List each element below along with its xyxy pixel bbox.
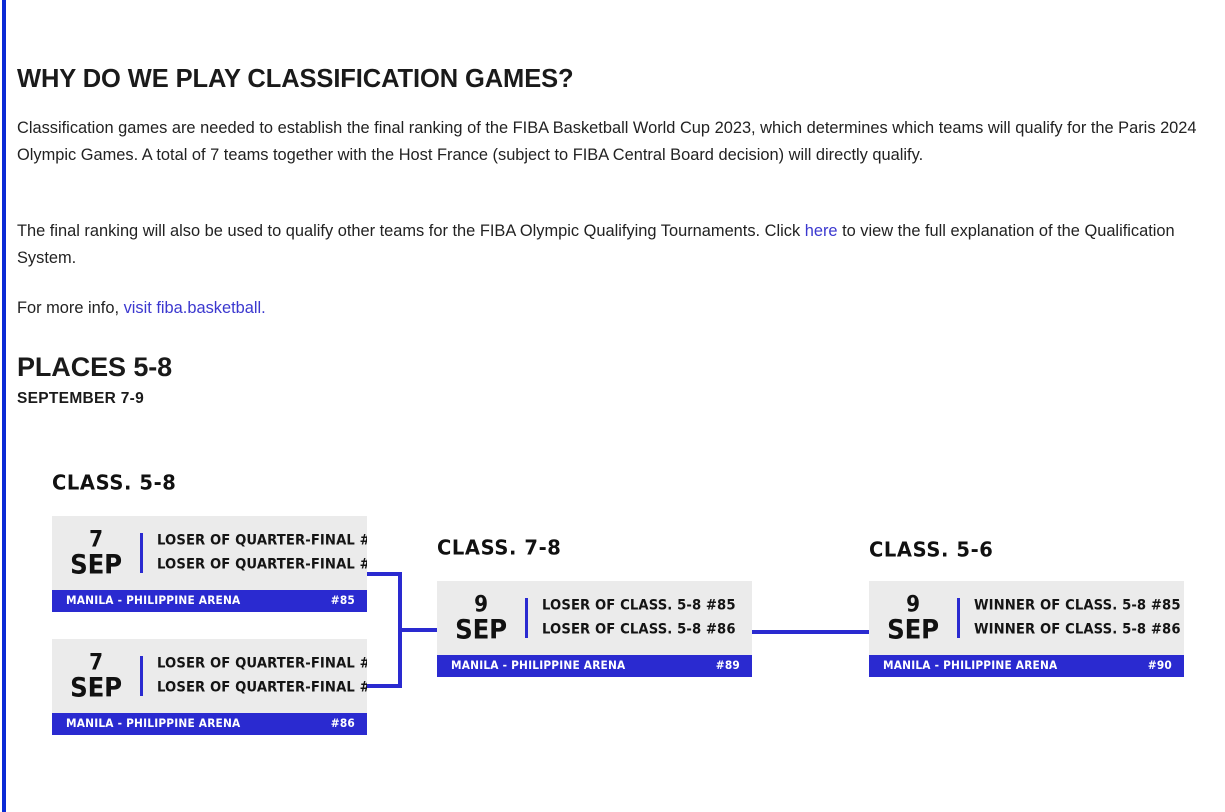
match-date: 9 SEP — [437, 594, 525, 643]
match-day: 9 — [869, 593, 957, 615]
connector-feed-horizontal — [398, 628, 437, 632]
match-teams: WINNER OF CLASS. 5-8 #85 WINNER OF CLASS… — [974, 594, 1184, 642]
match-card-89[interactable]: 9 SEP LOSER OF CLASS. 5-8 #85 LOSER OF C… — [437, 581, 752, 677]
divider-rule — [140, 533, 143, 573]
connector-bottom-horizontal — [367, 684, 402, 688]
venue-bar: MANILA - PHILIPPINE ARENA #85 — [52, 590, 367, 612]
venue-name: MANILA - PHILIPPINE ARENA — [883, 660, 1057, 673]
match-body: 9 SEP WINNER OF CLASS. 5-8 #85 WINNER OF… — [869, 581, 1184, 655]
match-date: 7 SEP — [52, 652, 140, 701]
game-number: #89 — [716, 660, 740, 673]
match-teams: LOSER OF CLASS. 5-8 #85 LOSER OF CLASS. … — [542, 594, 752, 642]
divider-rule — [957, 598, 960, 638]
match-day: 9 — [437, 593, 525, 615]
team-bottom: LOSER OF CLASS. 5-8 #86 — [542, 618, 752, 642]
match-date: 7 SEP — [52, 529, 140, 578]
venue-name: MANILA - PHILIPPINE ARENA — [66, 718, 240, 731]
match-date: 9 SEP — [869, 594, 957, 643]
venue-bar: MANILA - PHILIPPINE ARENA #90 — [869, 655, 1184, 677]
match-day: 7 — [52, 528, 140, 550]
match-month: SEP — [52, 552, 140, 578]
team-top: LOSER OF QUARTER-FINAL #82 — [157, 652, 367, 676]
venue-bar: MANILA - PHILIPPINE ARENA #89 — [437, 655, 752, 677]
divider-rule — [525, 598, 528, 638]
match-month: SEP — [869, 617, 957, 643]
match-card-90[interactable]: 9 SEP WINNER OF CLASS. 5-8 #85 WINNER OF… — [869, 581, 1184, 677]
team-top: WINNER OF CLASS. 5-8 #85 — [974, 594, 1184, 618]
match-body: 9 SEP LOSER OF CLASS. 5-8 #85 LOSER OF C… — [437, 581, 752, 655]
venue-name: MANILA - PHILIPPINE ARENA — [66, 595, 240, 608]
venue-name: MANILA - PHILIPPINE ARENA — [451, 660, 625, 673]
connector-top-horizontal — [367, 572, 402, 576]
article-page: WHY DO WE PLAY CLASSIFICATION GAMES? Cla… — [0, 0, 1225, 812]
divider-rule — [140, 656, 143, 696]
round-title-class-7-8: CLASS. 7-8 — [437, 536, 561, 560]
team-bottom: LOSER OF QUARTER-FINAL #84 — [157, 676, 367, 700]
round-title-class-5-6: CLASS. 5-6 — [869, 538, 993, 562]
match-body: 7 SEP LOSER OF QUARTER-FINAL #81 LOSER O… — [52, 516, 367, 590]
match-card-85[interactable]: 7 SEP LOSER OF QUARTER-FINAL #81 LOSER O… — [52, 516, 367, 612]
match-card-86[interactable]: 7 SEP LOSER OF QUARTER-FINAL #82 LOSER O… — [52, 639, 367, 735]
game-number: #86 — [331, 718, 355, 731]
match-body: 7 SEP LOSER OF QUARTER-FINAL #82 LOSER O… — [52, 639, 367, 713]
venue-bar: MANILA - PHILIPPINE ARENA #86 — [52, 713, 367, 735]
classification-bracket: CLASS. 5-8 CLASS. 7-8 CLASS. 5-6 7 SEP L… — [0, 0, 1225, 812]
match-month: SEP — [437, 617, 525, 643]
game-number: #85 — [331, 595, 355, 608]
game-number: #90 — [1148, 660, 1172, 673]
team-bottom: LOSER OF QUARTER-FINAL #83 — [157, 553, 367, 577]
team-top: LOSER OF CLASS. 5-8 #85 — [542, 594, 752, 618]
match-month: SEP — [52, 675, 140, 701]
team-bottom: WINNER OF CLASS. 5-8 #86 — [974, 618, 1184, 642]
team-top: LOSER OF QUARTER-FINAL #81 — [157, 529, 367, 553]
match-day: 7 — [52, 651, 140, 673]
match-teams: LOSER OF QUARTER-FINAL #82 LOSER OF QUAR… — [157, 652, 367, 700]
connector-class78-to-class56 — [752, 630, 869, 634]
match-teams: LOSER OF QUARTER-FINAL #81 LOSER OF QUAR… — [157, 529, 367, 577]
round-title-class-5-8: CLASS. 5-8 — [52, 471, 176, 495]
